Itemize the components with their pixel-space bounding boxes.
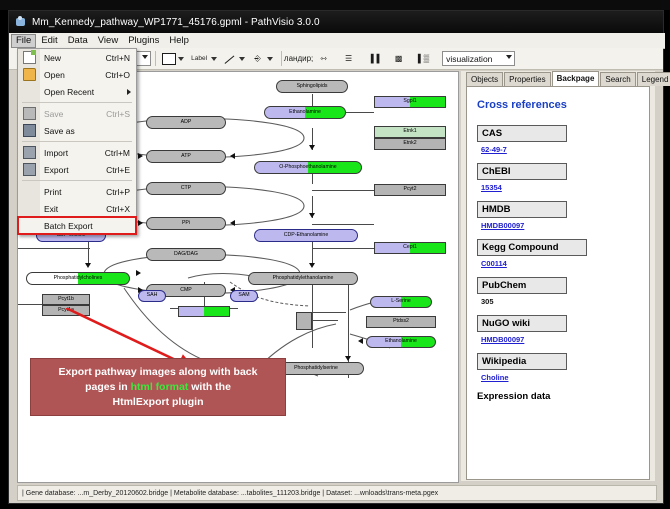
node-l-serine[interactable]: L-Serine — [370, 296, 432, 308]
save-as-icon — [23, 124, 36, 137]
menu-edit[interactable]: Edit — [36, 34, 62, 48]
callout-highlight-text: html format — [131, 381, 189, 393]
node-ptdss2[interactable]: Ptdss2 — [366, 316, 436, 328]
arrow-icon — [230, 220, 235, 226]
menu-item-save-as[interactable]: Save as — [18, 122, 136, 139]
xref-db-nugo: NuGO wiki — [477, 315, 567, 332]
xref-value-nugo[interactable]: HMDB00097 — [481, 335, 639, 344]
menu-data[interactable]: Data — [63, 34, 93, 48]
xref-value-cas[interactable]: 62-49-7 — [481, 145, 639, 154]
label-icon[interactable]: Label — [189, 51, 209, 66]
menu-item-import-accel: Ctrl+M — [105, 148, 130, 158]
interaction-dropdown-icon[interactable] — [267, 57, 273, 61]
menu-item-batch-export-label: Batch Export — [44, 221, 93, 231]
side-dock: Objects Properties Backpage Search Legen… — [461, 71, 655, 481]
dock-tabs: Objects Properties Backpage Search Legen… — [461, 71, 655, 86]
node-sam[interactable]: SAM — [230, 290, 258, 302]
datanode-dropdown-icon[interactable] — [178, 57, 184, 61]
menu-item-open-label: Open — [44, 70, 65, 80]
window-title: Mm_Kennedy_pathway_WP1771_45176.gpml - P… — [32, 17, 320, 28]
node-etnk2[interactable]: Etnk2 — [374, 138, 446, 150]
node-ethanolamine-top[interactable]: Ethanolamine — [264, 106, 346, 119]
new-page-icon — [23, 51, 36, 64]
callout-line-2-a: pages in — [85, 381, 131, 393]
xref-link-nugo[interactable]: HMDB00097 — [481, 335, 524, 344]
save-disk-icon — [23, 107, 36, 120]
menu-item-open[interactable]: Open Ctrl+O — [18, 66, 136, 83]
xref-db-kegg: Kegg Compound — [477, 239, 587, 256]
menu-item-exit[interactable]: Exit Ctrl+X — [18, 200, 136, 217]
xref-value-kegg[interactable]: C00114 — [481, 259, 639, 268]
node-pcyt1b[interactable]: Pcyt1b — [42, 294, 90, 305]
menu-item-save-accel: Ctrl+S — [106, 109, 130, 119]
menu-view[interactable]: View — [93, 34, 123, 48]
menu-item-open-accel: Ctrl+O — [105, 70, 130, 80]
arrow-icon — [358, 338, 363, 344]
export-icon — [23, 163, 36, 176]
menu-item-new-accel: Ctrl+N — [106, 53, 130, 63]
node-atp[interactable]: ATP — [146, 150, 226, 163]
datanode-icon[interactable] — [161, 51, 176, 66]
callout-line-2: pages in html format with the — [85, 380, 231, 395]
node-pcyt2[interactable]: Pcyt2 — [374, 184, 446, 196]
xref-value-wikipedia[interactable]: Choline — [481, 373, 639, 382]
callout-line-1: Export pathway images along with back — [59, 365, 258, 380]
arrow-icon — [345, 356, 351, 361]
arrow-icon — [309, 213, 315, 218]
status-text: | Gene database: ...m_Derby_20120602.bri… — [18, 490, 438, 497]
arrow-icon — [309, 263, 315, 268]
menu-item-save[interactable]: Save Ctrl+S — [18, 105, 136, 122]
menu-item-batch-export[interactable]: Batch Export — [18, 217, 136, 234]
menu-item-export[interactable]: Export Ctrl+E — [18, 161, 136, 178]
distribute-horizontal-icon[interactable]: ▐▐ — [366, 51, 381, 66]
node-etnk1[interactable]: Etnk1 — [374, 126, 446, 138]
pathvisio-window: Mm_Kennedy_pathway_WP1771_45176.gpml - P… — [8, 10, 664, 504]
xref-value-pubchem: 305 — [481, 297, 639, 306]
toolbar-separator — [281, 51, 282, 66]
tab-objects[interactable]: Objects — [466, 72, 503, 86]
menu-item-save-as-label: Save as — [44, 126, 75, 136]
node-sphingolipids[interactable]: Sphingolipids — [276, 80, 348, 93]
menu-plugins[interactable]: Plugins — [123, 34, 164, 48]
xref-value-hmdb[interactable]: HMDB00097 — [481, 221, 639, 230]
backpage-panel: Cross references CAS 62-49-7 ChEBI 15354… — [466, 86, 650, 480]
xref-link-wikipedia[interactable]: Choline — [481, 373, 509, 382]
pathvisio-icon — [15, 16, 27, 28]
menu-separator — [22, 102, 132, 103]
menu-help[interactable]: Help — [164, 34, 194, 48]
toolbar-separator — [155, 51, 156, 66]
xref-db-cas: CAS — [477, 125, 567, 142]
xref-link-chebi[interactable]: 15354 — [481, 183, 502, 192]
visualization-value: visualization — [446, 54, 492, 64]
expression-data-heading: Expression data — [477, 391, 639, 402]
menu-file[interactable]: File — [11, 34, 36, 48]
chevron-down-icon — [506, 55, 512, 59]
node-ethanolamine-bottom[interactable]: Ethanolamine — [366, 336, 436, 348]
menu-item-print-accel: Ctrl+P — [106, 187, 130, 197]
align-left-icon[interactable]: ⇿ — [316, 51, 331, 66]
tab-properties[interactable]: Properties — [504, 72, 550, 86]
node-adp[interactable]: ADP — [146, 116, 226, 129]
xref-link-cas[interactable]: 62-49-7 — [481, 145, 507, 154]
tab-search[interactable]: Search — [600, 72, 635, 86]
arrow-icon — [85, 263, 91, 268]
arrow-icon — [309, 145, 315, 150]
menu-item-new-label: New — [44, 53, 61, 63]
tab-legend[interactable]: Legend — [637, 72, 670, 86]
menu-item-export-label: Export — [44, 165, 69, 175]
menu-item-import[interactable]: Import Ctrl+M — [18, 144, 136, 161]
xref-link-kegg[interactable]: C00114 — [481, 259, 507, 268]
window-shadow — [0, 0, 670, 10]
same-width-icon[interactable]: ▌▒ — [416, 51, 431, 66]
visualization-combobox[interactable]: visualization — [442, 51, 515, 66]
menu-separator — [22, 180, 132, 181]
xref-db-chebi: ChEBI — [477, 163, 567, 180]
node-dag[interactable]: DAG/DAG — [146, 248, 226, 261]
menu-item-exit-label: Exit — [44, 204, 58, 214]
chevron-right-icon — [127, 89, 131, 95]
xref-value-chebi[interactable]: 15354 — [481, 183, 639, 192]
arrow-icon — [136, 270, 141, 276]
arrow-icon — [138, 220, 143, 226]
node-o-phosphoethanolamine[interactable]: O-Phosphoethanolamine — [254, 161, 362, 174]
node-sgpl1[interactable]: Sgpl1 — [374, 96, 446, 108]
menu-item-export-accel: Ctrl+E — [106, 165, 130, 175]
node-ppi[interactable]: PPi — [146, 217, 226, 230]
distribute-vertical-icon[interactable]: ☰ — [341, 51, 356, 66]
node-unlabeled-gene[interactable] — [296, 312, 312, 330]
menu-item-new[interactable]: New Ctrl+N — [18, 49, 136, 66]
menu-bar: File Edit Data View Plugins Help — [9, 33, 665, 49]
tab-backpage[interactable]: Backpage — [552, 71, 600, 86]
node-cept1[interactable]: Cept1 — [374, 242, 446, 254]
label-dropdown-icon[interactable] — [211, 57, 217, 61]
xref-db-hmdb: HMDB — [477, 201, 567, 218]
annotation-callout: Export pathway images along with back pa… — [30, 358, 286, 416]
menu-item-exit-accel: Ctrl+X — [106, 204, 130, 214]
menu-separator — [22, 141, 132, 142]
menu-item-open-recent-label: Open Recent — [44, 87, 94, 97]
same-height-icon[interactable]: ▩ — [391, 51, 406, 66]
node-cdp-ethanolamine[interactable]: CDP-Ethanolamine — [254, 229, 358, 242]
xref-db-pubchem: PubChem — [477, 277, 567, 294]
arrow-icon — [138, 153, 143, 159]
line-dropdown-icon[interactable] — [239, 57, 245, 61]
node-phosphatidylethanolamine[interactable]: Phosphatidylethanolamine — [248, 272, 358, 285]
menu-item-import-label: Import — [44, 148, 68, 158]
line-icon[interactable] — [222, 51, 237, 66]
arrow-icon — [230, 153, 235, 159]
import-icon — [23, 146, 36, 159]
interaction-icon[interactable]: ⎆ — [250, 51, 265, 66]
file-menu-dropdown[interactable]: New Ctrl+N Open Ctrl+O Open Recent Save … — [17, 48, 137, 235]
callout-line-2-b: with the — [188, 381, 231, 393]
title-bar: Mm_Kennedy_pathway_WP1771_45176.gpml - P… — [9, 11, 663, 33]
menu-item-save-label: Save — [44, 109, 63, 119]
node-ctp[interactable]: CTP — [146, 182, 226, 195]
chevron-down-icon — [142, 55, 148, 59]
xref-link-hmdb[interactable]: HMDB00097 — [481, 221, 524, 230]
menu-item-open-recent[interactable]: Open Recent — [18, 83, 136, 100]
menu-item-print-label: Print — [44, 187, 61, 197]
menu-item-print[interactable]: Print Ctrl+P — [18, 183, 136, 200]
desktop-backdrop: Mm_Kennedy_pathway_WP1771_45176.gpml - P… — [0, 0, 670, 509]
callout-line-3: HtmlExport plugin — [113, 395, 204, 410]
cross-references-heading: Cross references — [477, 99, 639, 111]
node-sah[interactable]: SAH — [138, 290, 166, 302]
xref-db-wikipedia: Wikipedia — [477, 353, 567, 370]
folder-open-icon — [23, 68, 36, 81]
align-top-icon[interactable]: ландир; — [291, 51, 306, 66]
status-bar: | Gene database: ...m_Derby_20120602.bri… — [17, 485, 657, 501]
node-phosphatidylcholines[interactable]: Phosphatidylcholines — [26, 272, 130, 285]
